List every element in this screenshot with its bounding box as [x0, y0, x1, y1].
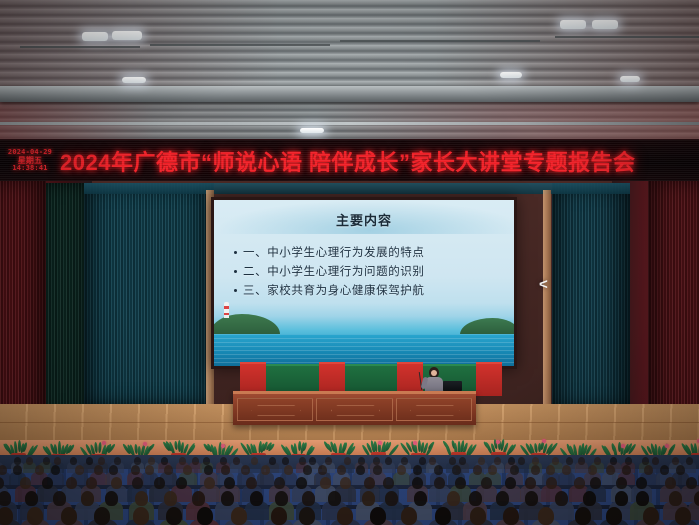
- audience-head: [320, 477, 331, 489]
- audience-head: [362, 491, 375, 506]
- audience-head: [54, 457, 61, 465]
- audience-head: [505, 477, 516, 489]
- lighting-truss: [0, 122, 699, 125]
- audience-head: [94, 465, 103, 475]
- audience-head: [675, 507, 691, 525]
- audience-head: [176, 477, 187, 489]
- audience-head: [220, 457, 227, 465]
- audience-head: [328, 491, 341, 506]
- flower-bloom: [143, 442, 147, 446]
- audience-head: [284, 465, 293, 475]
- audience-head: [131, 465, 140, 475]
- audience-head: [0, 465, 7, 475]
- spotlight-icon: [198, 48, 232, 94]
- audience-head: [594, 457, 601, 465]
- audience-head: [503, 507, 519, 525]
- audience-head: [192, 457, 199, 465]
- lighthouse-icon: [224, 302, 229, 318]
- audience-head: [299, 507, 315, 525]
- wall-pillar-right: [543, 190, 551, 405]
- audience-head: [686, 457, 693, 465]
- audience-head: [26, 457, 33, 465]
- audience-head: [525, 477, 536, 489]
- ceiling-lamp: [82, 32, 108, 41]
- stage-curtain-teal-right: [552, 183, 630, 411]
- podium-panel: [237, 398, 313, 421]
- audience-head: [373, 465, 382, 475]
- audience-head: [179, 457, 186, 465]
- audience-head: [94, 507, 110, 525]
- audience-head: [233, 457, 240, 465]
- audience-head: [303, 465, 312, 475]
- audience-head: [616, 477, 627, 489]
- auditorium-photo: 2024-04-29 星期五 14:38:41 2024年广德市“师说心语 陪伴…: [0, 0, 699, 525]
- audience-head: [221, 491, 234, 506]
- audience-head: [275, 491, 288, 506]
- audience-area: [0, 455, 699, 525]
- audience-head: [274, 477, 285, 489]
- audience-head: [531, 465, 540, 475]
- projected-slide: 主要内容 一、中小学生心理行为发展的特点 二、中小学生心理行为问题的识别 三、家…: [214, 200, 514, 366]
- audience-head: [0, 491, 11, 506]
- audience-head: [337, 507, 353, 525]
- audience-head: [434, 477, 445, 489]
- audience-head: [508, 457, 515, 465]
- audience-head: [14, 457, 21, 465]
- audience-head: [414, 491, 427, 506]
- spotlight-icon: [0, 46, 30, 92]
- audience-head: [644, 465, 653, 475]
- spotlight-icon: [672, 48, 699, 94]
- audience-head: [473, 465, 482, 475]
- podium-panel: [396, 398, 472, 421]
- ceiling-lamp: [300, 128, 324, 133]
- audience-head: [35, 465, 44, 475]
- stage-curtain-red-left: [0, 181, 46, 431]
- audience-head: [148, 457, 155, 465]
- audience-head: [449, 457, 456, 465]
- audience-head: [161, 457, 168, 465]
- audience-head: [583, 491, 596, 506]
- flower-bloom: [102, 441, 106, 445]
- bullet-icon: [234, 289, 237, 292]
- audience-head: [578, 457, 585, 465]
- bullet-text: 三、家校共育为身心健康保驾护航: [243, 282, 425, 298]
- audience-head: [562, 465, 571, 475]
- flower-bloom: [221, 444, 225, 448]
- audience-head: [197, 507, 213, 525]
- audience-head: [459, 457, 466, 465]
- bullet-text: 二、中小学生心理行为问题的识别: [243, 263, 425, 279]
- audience-head: [111, 477, 122, 489]
- audience-head: [575, 507, 591, 525]
- list-item: 一、中小学生心理行为发展的特点: [234, 244, 504, 260]
- bullet-icon: [234, 270, 237, 273]
- audience-head: [455, 477, 466, 489]
- audience-head: [221, 465, 230, 475]
- audience-head: [42, 477, 53, 489]
- audience-head: [574, 477, 585, 489]
- audience-head: [0, 507, 13, 525]
- audience-head: [622, 465, 631, 475]
- audience-head: [385, 491, 398, 506]
- audience-head: [672, 457, 679, 465]
- led-banner: 2024-04-29 星期五 14:38:41 2024年广德市“师说心语 陪伴…: [0, 139, 699, 183]
- flower-bloom: [665, 444, 669, 448]
- led-headline: 2024年广德市“师说心语 陪伴成长”家长大讲堂专题报告会: [60, 140, 699, 182]
- list-item: 二、中小学生心理行为问题的识别: [234, 263, 504, 279]
- audience-head: [86, 477, 97, 489]
- audience-head: [358, 457, 365, 465]
- spotlight-icon: [404, 50, 438, 96]
- bullet-text: 一、中小学生心理行为发展的特点: [243, 244, 425, 260]
- spotlight-icon: [608, 48, 642, 94]
- audience-head: [43, 457, 50, 465]
- audience-head: [309, 457, 316, 465]
- audience-head: [203, 457, 210, 465]
- audience-head: [566, 457, 573, 465]
- speaker-face: [431, 370, 437, 376]
- laptop-lid: [443, 381, 462, 391]
- ceiling-lamp: [112, 31, 142, 40]
- audience-head: [61, 507, 77, 525]
- ceiling-conduit: [555, 36, 699, 38]
- ceiling-conduit: [150, 44, 330, 46]
- audience-head: [494, 457, 501, 465]
- audience-head: [488, 465, 497, 475]
- audience-head: [251, 457, 258, 465]
- list-item: 三、家校共育为身心健康保驾护航: [234, 282, 504, 298]
- audience-head: [164, 491, 177, 506]
- audience-head: [373, 457, 380, 465]
- audience-head: [105, 491, 118, 506]
- audience-head: [325, 457, 332, 465]
- audience-head: [269, 457, 276, 465]
- audience-head: [70, 457, 77, 465]
- spotlight-icon: [540, 48, 574, 94]
- audience-head: [478, 457, 485, 465]
- audience-head: [496, 491, 509, 506]
- audience-head: [51, 465, 60, 475]
- spotlight-icon: [62, 48, 96, 94]
- spotlight-icon: [130, 50, 164, 96]
- audience-head: [385, 457, 392, 465]
- audience-head: [525, 491, 538, 506]
- audience-head: [132, 477, 143, 489]
- audience-head: [75, 465, 84, 475]
- audience-head: [469, 491, 482, 506]
- audience-head: [13, 465, 22, 475]
- audience-head: [652, 457, 659, 465]
- audience-head: [397, 465, 406, 475]
- audience-head: [25, 491, 38, 506]
- audience-head: [27, 507, 43, 525]
- audience-head: [318, 465, 327, 475]
- audience-head: [302, 491, 315, 506]
- audience-head: [337, 465, 346, 475]
- audience-head: [643, 507, 659, 525]
- audience-head: [401, 457, 408, 465]
- audience-head: [610, 457, 617, 465]
- spotlight-icon: [334, 48, 368, 94]
- audience-head: [588, 465, 597, 475]
- audience-head: [636, 491, 649, 506]
- audience-head: [412, 477, 423, 489]
- ceiling-lamp: [560, 20, 586, 29]
- audience-head: [166, 507, 182, 525]
- audience-head: [552, 457, 559, 465]
- audience-head: [135, 491, 148, 506]
- audience-head: [282, 457, 289, 465]
- chevron-left-icon: <: [539, 277, 548, 292]
- audience-head: [340, 477, 351, 489]
- flower-block: [476, 362, 502, 396]
- audience-head: [66, 477, 77, 489]
- audience-head: [261, 465, 270, 475]
- leaf: [98, 441, 102, 452]
- ceiling-lamp: [592, 20, 618, 29]
- audience-head: [538, 507, 554, 525]
- audience-head: [660, 465, 669, 475]
- audience-head: [20, 477, 31, 489]
- audience-head: [555, 491, 568, 506]
- audience-head: [134, 457, 141, 465]
- audience-head: [192, 491, 205, 506]
- led-time: 14:38:41: [12, 165, 47, 173]
- audience-head: [344, 457, 351, 465]
- audience-head: [606, 507, 622, 525]
- audience-head: [370, 507, 386, 525]
- audience-head: [518, 457, 525, 465]
- slide-title: 主要内容: [214, 210, 514, 229]
- audience-head: [615, 491, 628, 506]
- audience-head: [470, 507, 486, 525]
- audience-head: [98, 457, 105, 465]
- audience-head: [81, 491, 94, 506]
- audience-head: [109, 465, 118, 475]
- audience-head: [481, 477, 492, 489]
- audience-head: [271, 507, 287, 525]
- audience-head: [669, 491, 682, 506]
- audience-head: [250, 491, 263, 506]
- audience-head: [224, 477, 235, 489]
- audience-head: [429, 457, 436, 465]
- audience-head: [401, 507, 417, 525]
- projection-screen: 主要内容 一、中小学生心理行为发展的特点 二、中小学生心理行为问题的识别 三、家…: [211, 197, 517, 369]
- audience-head: [532, 457, 539, 465]
- stage-curtain-red-right: [648, 181, 699, 433]
- stage-curtain-teal-left: [84, 183, 214, 408]
- audience-head: [154, 477, 165, 489]
- bullet-icon: [234, 251, 237, 254]
- audience-head: [413, 465, 422, 475]
- audience-head: [636, 477, 647, 489]
- audience-head: [145, 465, 154, 475]
- ceiling: [0, 0, 699, 140]
- audience-head: [435, 507, 451, 525]
- podium-desk: [233, 391, 476, 425]
- ceiling-conduit: [340, 40, 540, 42]
- audience-head: [452, 465, 461, 475]
- audience-head: [694, 491, 699, 506]
- audience-head: [133, 507, 149, 525]
- audience-head: [676, 465, 685, 475]
- audience-head: [419, 457, 426, 465]
- audience-head: [686, 477, 697, 489]
- audience-head: [204, 477, 215, 489]
- podium-panel: [316, 398, 392, 421]
- audience-head: [114, 457, 121, 465]
- spotlight-icon: [265, 48, 299, 94]
- audience-head: [86, 457, 93, 465]
- audience-head: [447, 491, 460, 506]
- led-clock: 2024-04-29 星期五 14:38:41: [2, 142, 58, 180]
- audience-head: [53, 491, 66, 506]
- audience-head: [510, 465, 519, 475]
- spotlight-icon: [470, 50, 504, 96]
- slide-bullet-list: 一、中小学生心理行为发展的特点 二、中小学生心理行为问题的识别 三、家校共育为身…: [234, 244, 504, 301]
- audience-head: [625, 457, 632, 465]
- audience-head: [231, 507, 247, 525]
- audience-head: [642, 457, 649, 465]
